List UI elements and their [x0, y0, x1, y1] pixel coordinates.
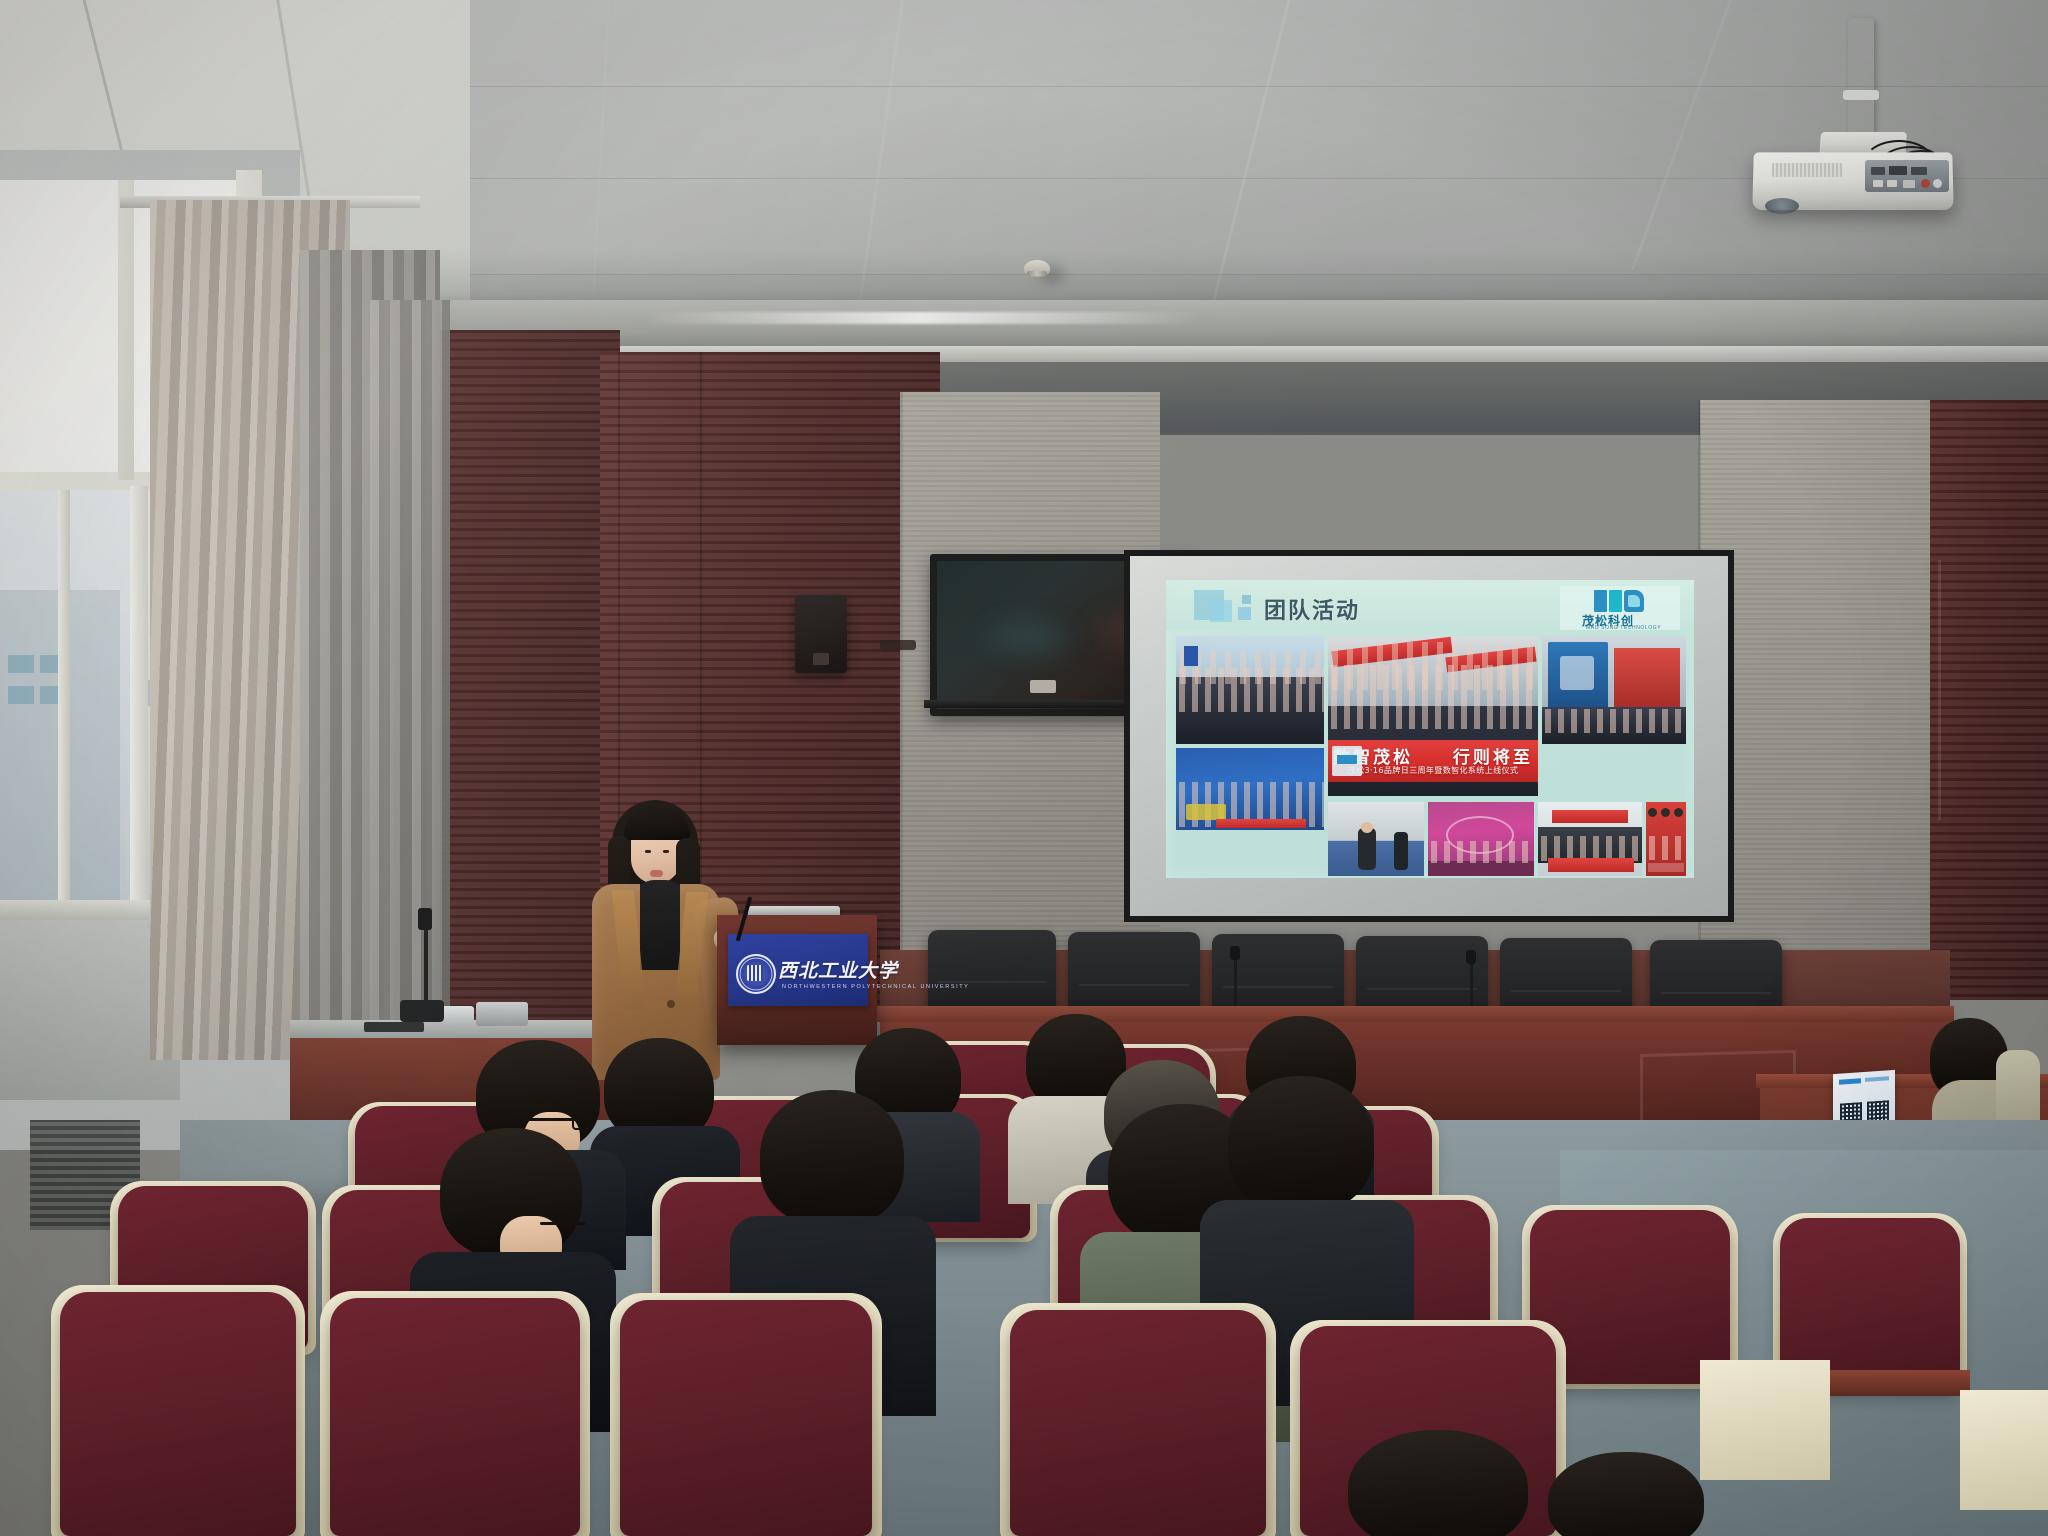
- monitor-logo-icon: [1030, 680, 1056, 693]
- microphone-head-icon: [418, 908, 432, 930]
- presentation-slide: 团队活动 茂松科创 MAO SONG TECHNOLOGY 数: [1166, 580, 1694, 878]
- university-name-cn: 西北工业大学: [778, 956, 898, 983]
- university-name-en: NORTHWESTERN POLYTECHNICAL UNIVERSITY: [782, 984, 969, 990]
- microphone-base: [400, 1000, 444, 1022]
- slide-photo-performance: [1428, 802, 1534, 876]
- company-logo-en: MAO SONG TECHNOLOGY: [1586, 625, 1661, 631]
- desk-microphone: [1234, 952, 1237, 1014]
- decor-square-icon: [1238, 607, 1251, 620]
- company-logo: 茂松科创 MAO SONG TECHNOLOGY: [1560, 586, 1680, 630]
- cove-light: [640, 312, 1200, 324]
- seat-panel: [1700, 1360, 1830, 1480]
- slide-photo-group: [1176, 636, 1324, 744]
- monitor-glow: [975, 610, 1085, 666]
- projector-port-panel: [1865, 160, 1949, 192]
- microphone-head-icon: [1466, 950, 1476, 964]
- university-seal-icon: [736, 954, 776, 994]
- seat-panel: [1960, 1390, 2048, 1510]
- building-logo-icon: [1594, 590, 1646, 612]
- wall-wood-right: [1930, 400, 2048, 1000]
- lecture-hall-photo: 团队活动 茂松科创 MAO SONG TECHNOLOGY 数: [0, 0, 2048, 1536]
- smoke-detector-icon: [1024, 260, 1050, 277]
- window-mullion: [118, 180, 134, 480]
- window-mullion: [130, 486, 148, 910]
- curtain-right: [370, 300, 450, 1040]
- projector-lens-icon: [1765, 198, 1799, 214]
- counter-device: [476, 1002, 528, 1026]
- decor-square-icon: [1210, 600, 1232, 622]
- seat-front[interactable]: [1010, 1310, 1266, 1536]
- counter-item: [364, 1022, 424, 1032]
- slide-title: 团队活动: [1264, 593, 1360, 625]
- seat-front[interactable]: [330, 1298, 580, 1536]
- ceiling-soffit: [430, 300, 2048, 352]
- wall-speaker-icon: [795, 595, 847, 673]
- slide-photo-award: [1176, 748, 1324, 830]
- wall-hook: [880, 640, 916, 650]
- seat-front[interactable]: [620, 1300, 872, 1536]
- wall-seam: [900, 392, 903, 952]
- seat-front[interactable]: [60, 1292, 296, 1536]
- wall-seam: [1938, 560, 1941, 820]
- slide-photo-lineup: [1646, 802, 1686, 876]
- slide-photo-ceremony: 数智茂松 行则将至 茂松3·16品牌日三周年暨数智化系统上线仪式: [1328, 636, 1538, 796]
- projector-collar: [1843, 90, 1879, 100]
- stage-desk-top: [876, 1006, 1954, 1022]
- window-mullion: [58, 490, 70, 910]
- slide-photo-booth: [1542, 636, 1686, 744]
- slide-header: 团队活动 茂松科创 MAO SONG TECHNOLOGY: [1166, 580, 1694, 630]
- projector-vent: [1772, 163, 1842, 177]
- slide-photo-annual: [1538, 802, 1642, 876]
- decor-square-icon: [1242, 595, 1251, 604]
- wall-fabric-right: [1700, 400, 1950, 960]
- microphone-head-icon: [1230, 946, 1240, 960]
- slide-photo-workshop: [1328, 802, 1424, 876]
- projector-pole: [1848, 18, 1874, 136]
